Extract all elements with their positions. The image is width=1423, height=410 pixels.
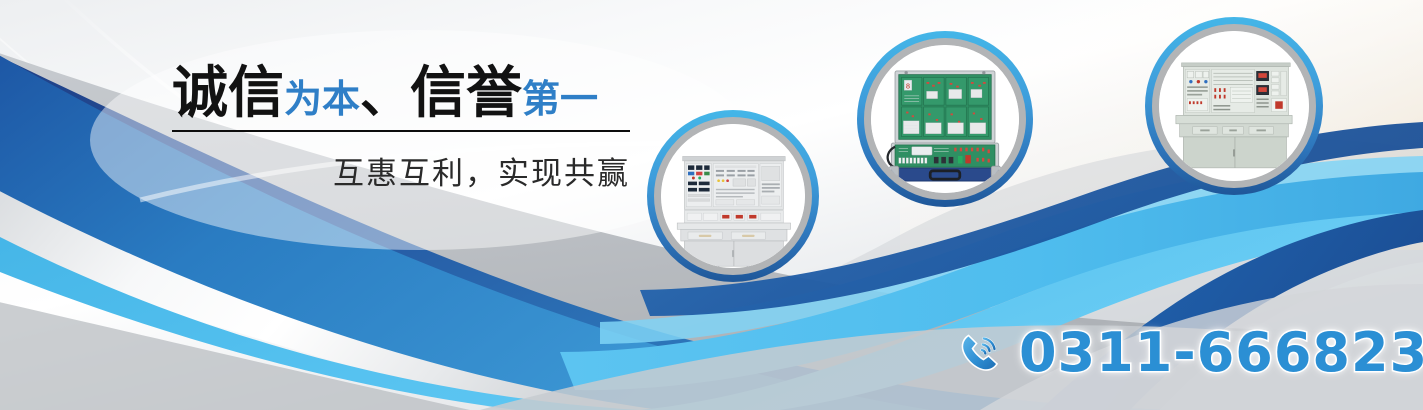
product-circle-electrical-training-workbench[interactable] xyxy=(647,110,819,282)
product-photo-motor-bench xyxy=(1159,31,1309,181)
headline-punctuation: 、 xyxy=(360,66,410,124)
product-photo-workbench xyxy=(661,124,805,268)
headline-part-3: 信誉 xyxy=(410,61,522,126)
product-photo-training-case: 8 xyxy=(871,45,1019,193)
headline-part-4: 第一 xyxy=(522,77,598,121)
headline: 诚信为本、信誉第一 xyxy=(172,66,642,122)
phone-call-icon xyxy=(955,328,1005,378)
contact-block[interactable]: 0311-66682303 xyxy=(955,326,1423,380)
circle-inner-ring xyxy=(1152,24,1316,188)
product-circle-motor-control-training-bench[interactable] xyxy=(1145,17,1323,195)
headline-block: 诚信为本、信誉第一 互惠互利，实现共赢 xyxy=(172,66,642,193)
phone-number[interactable]: 0311-66682303 xyxy=(1019,326,1423,380)
headline-part-2: 为本 xyxy=(284,77,360,121)
circle-inner-ring: 8 xyxy=(864,38,1026,200)
promotional-banner: 诚信为本、信誉第一 互惠互利，实现共赢 xyxy=(0,0,1423,410)
product-circle-portable-electronics-training-case[interactable]: 8 xyxy=(857,31,1033,207)
svg-text:8: 8 xyxy=(906,81,910,90)
circle-inner-ring xyxy=(654,117,812,275)
headline-divider xyxy=(172,130,630,132)
subtitle: 互惠互利，实现共赢 xyxy=(172,148,630,193)
headline-part-1: 诚信 xyxy=(172,61,284,126)
